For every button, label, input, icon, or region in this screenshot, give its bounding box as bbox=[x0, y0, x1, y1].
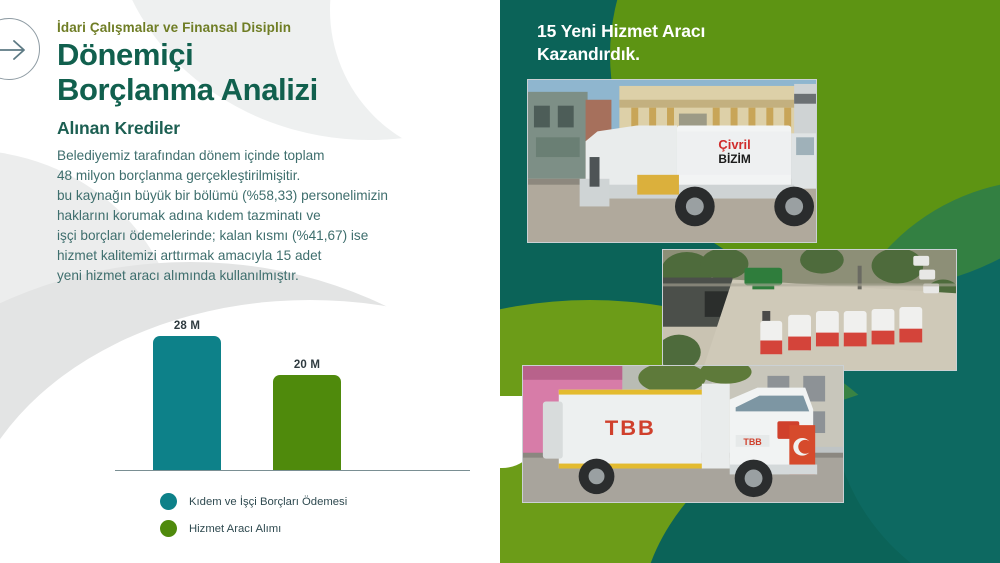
svg-text:BİZİM: BİZİM bbox=[718, 151, 751, 166]
body-line: 48 milyon borçlanma gerçekleştirilmişiti… bbox=[57, 166, 477, 186]
right-panel: 15 Yeni Hizmet Aracı Kazandırdık. bbox=[500, 0, 1000, 563]
bar-1[interactable] bbox=[273, 375, 341, 471]
legend-color-swatch-0 bbox=[160, 493, 177, 510]
slide: İdari Çalışmalar ve Finansal Disiplin Dö… bbox=[0, 0, 1000, 563]
svg-text:TBB: TBB bbox=[743, 437, 762, 447]
svg-text:Çivril: Çivril bbox=[718, 137, 750, 152]
legend-color-swatch-1 bbox=[160, 520, 177, 537]
chart-legend: Kıdem ve İşçi Borçları Ödemesi Hizmet Ar… bbox=[160, 493, 347, 547]
bar-value-label-0: 28 M bbox=[127, 320, 247, 332]
legend-label-0: Kıdem ve İşçi Borçları Ödemesi bbox=[189, 496, 347, 508]
page-title: Dönemiçi Borçlanma Analizi bbox=[57, 38, 477, 107]
body-line: hizmet kalitemizi arttırmak amacıyla 15 … bbox=[57, 246, 477, 266]
page-title-line1: Dönemiçi bbox=[57, 38, 477, 73]
right-panel-title: 15 Yeni Hizmet Aracı Kazandırdık. bbox=[537, 20, 867, 66]
bar-group-0[interactable]: 28 M bbox=[153, 336, 221, 471]
page-title-line2: Borçlanma Analizi bbox=[57, 73, 477, 108]
photo-garbage-truck-civril-bizim: Çivril BİZİM bbox=[527, 79, 817, 243]
chart-plot-area: 28 M 20 M bbox=[115, 321, 475, 471]
left-panel: İdari Çalışmalar ve Finansal Disiplin Dö… bbox=[0, 0, 500, 563]
body-paragraph: Belediyemiz tarafından dönem içinde topl… bbox=[57, 146, 477, 286]
body-line: haklarını korumak adına kıdem tazminatı … bbox=[57, 206, 477, 226]
body-line: işçi borçları ödemelerinde; kalan kısmı … bbox=[57, 226, 477, 246]
bar-value-label-1: 20 M bbox=[247, 359, 367, 371]
right-title-line1: 15 Yeni Hizmet Aracı bbox=[537, 20, 867, 43]
arrow-right-circle-icon[interactable] bbox=[0, 18, 40, 80]
legend-label-1: Hizmet Aracı Alımı bbox=[189, 523, 281, 535]
svg-text:TBB: TBB bbox=[605, 415, 656, 440]
photo-garbage-truck-tbb: TBB TBB bbox=[522, 365, 844, 503]
body-line: bu kaynağın büyük bir bölümü (%58,33) pe… bbox=[57, 186, 477, 206]
eyebrow-label: İdari Çalışmalar ve Finansal Disiplin bbox=[57, 20, 477, 35]
bar-chart: 28 M 20 M Kıdem ve İşçi Borçları Ödemesi… bbox=[115, 318, 475, 493]
legend-item-1[interactable]: Hizmet Aracı Alımı bbox=[160, 520, 347, 537]
right-title-line2: Kazandırdık. bbox=[537, 43, 867, 66]
bar-group-1[interactable]: 20 M bbox=[273, 375, 341, 471]
left-content: İdari Çalışmalar ve Finansal Disiplin Dö… bbox=[57, 20, 477, 286]
bar-0[interactable] bbox=[153, 336, 221, 471]
section-subtitle: Alınan Krediler bbox=[57, 118, 477, 139]
body-line: yeni hizmet aracı alımında kullanılmıştı… bbox=[57, 266, 477, 286]
photo-vehicle-fleet-aerial bbox=[662, 249, 957, 371]
legend-item-0[interactable]: Kıdem ve İşçi Borçları Ödemesi bbox=[160, 493, 347, 510]
chart-axis-line bbox=[115, 470, 470, 471]
body-line: Belediyemiz tarafından dönem içinde topl… bbox=[57, 146, 477, 166]
